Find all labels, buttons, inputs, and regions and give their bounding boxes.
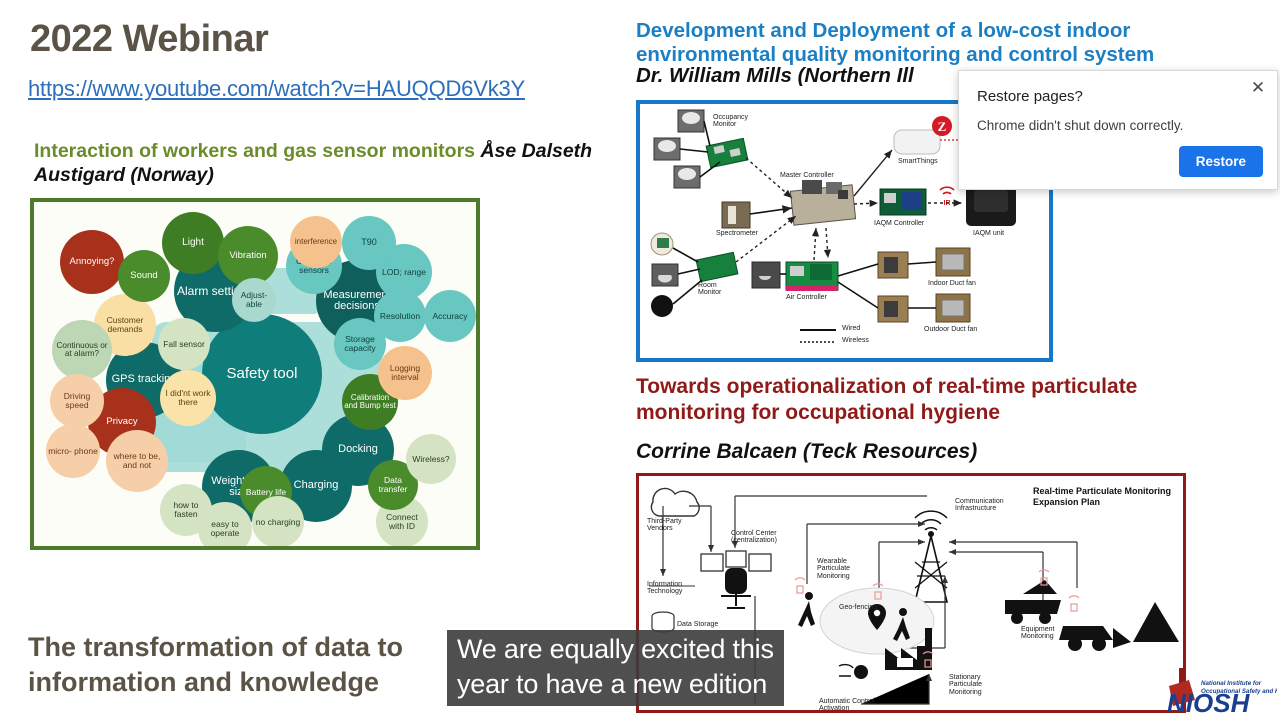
bubble-label: Connect with ID: [378, 513, 426, 530]
bubble-node: Fall sensor: [158, 318, 210, 370]
talk-3-title-line1: Towards operationalization of real-time …: [636, 374, 1236, 400]
particulate-label-automatic-control: Automatic Control Activation: [819, 698, 877, 713]
bubble-node: Logging interval: [378, 346, 432, 400]
iaqm-label-iaqm-controller: IAQM Controller: [874, 220, 924, 227]
iaqm-label-master-controller: Master Controller: [780, 172, 834, 179]
bottom-headline-line2: information and knowledge: [28, 665, 458, 700]
bubble-node: Accuracy: [424, 290, 476, 342]
bubble-label: Wireless?: [412, 455, 449, 464]
bubble-label: where to be, and not: [108, 452, 166, 469]
particulate-label-third-party-vendors: Third-Party Vendors: [647, 518, 695, 533]
bubble-label: Calibration and Bump test: [344, 394, 396, 410]
bubble-label: interference: [295, 238, 337, 246]
bubble-label: Docking: [338, 444, 378, 455]
caption-line-2: year to have a new edition: [457, 667, 774, 702]
bubble-label: LOD; range: [382, 268, 426, 277]
svg-text:Z: Z: [938, 119, 947, 134]
bubble-node: Sound: [118, 250, 170, 302]
bubble-node: Wireless?: [406, 434, 456, 484]
bubble-label: Resolution: [380, 312, 420, 321]
particulate-diagram-title: Real-time Particulate Monitoring Expansi…: [1033, 486, 1171, 509]
bubble-label: Safety tool: [227, 366, 298, 381]
iaqm-label-occupancy-monitor: Occupancy Monitor: [713, 114, 765, 129]
particulate-label-communication-infrastructure: Communication Infrastructure: [955, 498, 1009, 513]
iaqm-label-room-monitor: Room Monitor: [698, 282, 738, 297]
iaqm-label-outdoor-duct-fan: Outdoor Duct fan: [924, 326, 977, 333]
dialog-body-text: Chrome didn't shut down correctly.: [977, 118, 1183, 133]
bubble-node: Storage capacity: [334, 318, 386, 370]
bubble-node: Annoying?: [60, 230, 124, 294]
iaqm-label-smartthings: SmartThings: [898, 158, 938, 165]
talk-2-title-line1: Development and Deployment of a low-cost…: [636, 19, 1246, 43]
particulate-title-line2: Expansion Plan: [1033, 497, 1171, 508]
niosh-tagline-line2: Occupational Safety and Health: [1201, 688, 1277, 695]
iaqm-label-spectrometer: Spectrometer: [716, 230, 758, 237]
particulate-label-equipment-monitoring: Equipment Monitoring: [1021, 626, 1067, 641]
bubble-node: Driving speed: [50, 374, 104, 428]
bubble-node: how to fasten: [160, 484, 212, 536]
niosh-tagline-line1: National Institute for: [1201, 680, 1262, 687]
talk-3-title: Towards operationalization of real-time …: [636, 374, 1236, 427]
bubble-label: Adjust- able: [234, 291, 274, 308]
talk-1-title: Interaction of workers and gas sensor mo…: [34, 140, 475, 162]
bubble-label: Annoying?: [70, 257, 115, 267]
talk-3-title-line2: monitoring for occupational hygiene: [636, 400, 1236, 426]
bubble-label: Light: [182, 238, 204, 248]
bubble-node: I did'nt work there: [160, 370, 216, 426]
bottom-headline-line1: The transformation of data to: [28, 630, 458, 665]
bubble-label: no charging: [256, 518, 300, 527]
bubble-label: I did'nt work there: [162, 389, 214, 406]
bubble-label: how to fasten: [162, 501, 210, 518]
particulate-label-wearable-monitoring: Wearable Particulate Monitoring: [817, 558, 865, 580]
close-icon[interactable]: ✕: [1247, 77, 1269, 99]
bubble-label: micro- phone: [48, 447, 98, 456]
bottom-headline: The transformation of data to informatio…: [28, 630, 458, 699]
bubble-node: T90: [342, 216, 396, 270]
bubble-label: Privacy: [106, 417, 137, 427]
talk-2-title: Development and Deployment of a low-cost…: [636, 19, 1246, 67]
niosh-logo: NIOSH National Institute for Occupationa…: [1163, 668, 1277, 718]
iaqm-legend-wired: Wired: [842, 325, 860, 332]
particulate-title-line1: Real-time Particulate Monitoring: [1033, 486, 1171, 497]
particulate-label-information-technology: Information Technology: [647, 581, 703, 596]
particulate-label-control-center: Control Center (centralization): [731, 530, 803, 545]
talk-1-heading: Interaction of workers and gas sensor mo…: [34, 140, 614, 188]
bubble-label: Accuracy: [433, 312, 468, 321]
particulate-label-geo-fencing: Geo-fencing: [839, 604, 877, 611]
iaqm-label-iaqm-unit: IAQM unit: [973, 230, 1004, 237]
iaqm-label-indoor-duct-fan: Indoor Duct fan: [928, 280, 976, 287]
slide-canvas: 2022 Webinar https://www.youtube.com/wat…: [0, 0, 1280, 720]
bubble-label: Continuous or at alarm?: [54, 342, 110, 359]
dialog-heading: Restore pages?: [977, 88, 1083, 105]
bubble-label: Data transfer: [370, 476, 416, 493]
niosh-logo-svg: NIOSH National Institute for Occupationa…: [1163, 668, 1277, 718]
bubble-node: micro- phone: [46, 424, 100, 478]
iaqm-legend-wireless: Wireless: [842, 337, 869, 344]
bubble-node: Adjust- able: [232, 278, 276, 322]
iaqm-label-air-controller: Air Controller: [786, 294, 827, 301]
restore-pages-dialog[interactable]: ✕ Restore pages? Chrome didn't shut down…: [958, 70, 1278, 190]
particulate-label-data-storage: Data Storage: [677, 621, 718, 628]
bubble-node: Light: [162, 212, 224, 274]
page-title: 2022 Webinar: [30, 18, 268, 61]
bubble-label: Sound: [130, 271, 157, 281]
bubble-label: Battery life: [246, 488, 286, 497]
talk-3-speaker: Corrine Balcaen (Teck Resources): [636, 440, 1236, 464]
bubble-node: no charging: [252, 496, 304, 548]
bubble-label: Vibration: [229, 251, 266, 261]
bubble-label: Storage capacity: [336, 335, 384, 352]
bubble-label: Logging interval: [380, 364, 430, 381]
bubble-node: Vibration: [218, 226, 278, 286]
particulate-label-stationary-monitoring: Stationary Particulate Monitoring: [949, 674, 997, 696]
bubble-node: where to be, and not: [106, 430, 168, 492]
caption-line-1: We are equally excited this: [457, 632, 774, 667]
bubble-node: Continuous or at alarm?: [52, 320, 112, 380]
youtube-link[interactable]: https://www.youtube.com/watch?v=HAUQQD6V…: [28, 76, 525, 102]
bubble-label: Fall sensor: [163, 340, 205, 349]
bubble-label: Driving speed: [52, 392, 102, 409]
bubble-label: T90: [361, 238, 377, 247]
bubble-chart-figure: Annoying?SoundLightVibrationAlarm settin…: [30, 198, 480, 550]
bubble-node: Safety tool: [202, 314, 322, 434]
video-caption-overlay: We are equally excited this year to have…: [447, 630, 784, 706]
bubble-label: Charging: [294, 480, 339, 491]
restore-button[interactable]: Restore: [1179, 146, 1263, 177]
bubble-node: interference: [290, 216, 342, 268]
